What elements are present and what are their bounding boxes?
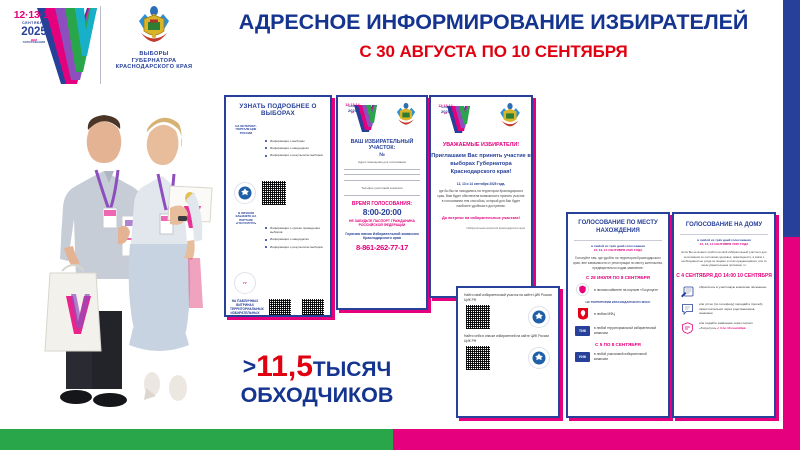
emblem-caption-line-1: ВЫБОРЫ bbox=[104, 51, 204, 58]
v-mark-icon: 12·13·14 СЕНТЯБРЯ 2025 ДНИ bbox=[437, 104, 470, 134]
logo-date-line: 12·13·14 bbox=[9, 10, 59, 21]
header: 12·13·14 СЕНТЯБРЯ 2025 ДНИ ГОЛОСОВАНИЯ bbox=[0, 0, 800, 92]
poster1-block1-label: НА ИНТЕРНЕТ-ПОРТАЛЕ ЦИК РОССИИ bbox=[230, 123, 262, 177]
poster6-item1-text: обратитесь в участковую комиссию письмен… bbox=[699, 285, 766, 290]
poster4-item2-text: Найти себя в списке избирателей на сайте… bbox=[464, 334, 552, 344]
qr-code[interactable] bbox=[302, 299, 324, 317]
poster4-item-2: Найти себя в списке избирателей на сайте… bbox=[458, 329, 558, 344]
poster-voting-by-location[interactable]: ГОЛОСОВАНИЕ ПО МЕСТУ НАХОЖДЕНИЯ в любой … bbox=[566, 212, 670, 418]
poster-voting-at-home[interactable]: ГОЛОСОВАНИЕ НА ДОМУ в любой из трёх дней… bbox=[672, 212, 776, 418]
logo-days-1: ДНИ bbox=[344, 113, 361, 114]
qr-code[interactable] bbox=[262, 181, 286, 205]
logo-days-2: ГОЛОСОВАНИЯ bbox=[9, 42, 59, 45]
edge-stripe-pink bbox=[783, 237, 800, 450]
poster2-title: ВАШ ИЗБИРАТЕЛЬНЫЙ УЧАСТОК: bbox=[341, 139, 423, 151]
poster6-item-2: или устно (по телефону) передайте просьб… bbox=[674, 302, 774, 316]
qr-code[interactable] bbox=[466, 346, 490, 370]
poster3-body: где бы Вы ни находились на территории Кр… bbox=[437, 189, 525, 209]
write-line bbox=[344, 174, 420, 175]
stat-greater-than: > bbox=[243, 353, 256, 379]
poster6-date: С 4 СЕНТЯБРЯ ДО 14:00 10 СЕНТЯБРЯ bbox=[676, 273, 772, 280]
poster3-header: 12·13·14 СЕНТЯБРЯ 2025 ДНИ bbox=[431, 97, 531, 138]
poster3-title: УВАЖАЕМЫЕ ИЗБИРАТЕЛИ! bbox=[434, 142, 528, 148]
poster5-sub-2: 12, 13, 14 СЕНТЯБРЯ 2025 ГОДА bbox=[568, 248, 668, 252]
list-item: Информация о выборах bbox=[265, 139, 326, 144]
poster5-date-2: С 5 ПО 8 СЕНТЯБРЯ bbox=[570, 342, 666, 347]
poster5-item4-text: в любой участковой избирательной комисси… bbox=[594, 352, 661, 361]
divider bbox=[574, 240, 662, 241]
poster1-block-2: В ЛИЧНОМ КАБИНЕТЕ НА ПОРТАЛЕ «ГОСУСЛУГИ»… bbox=[226, 210, 330, 268]
stat-unit: ТЫСЯЧ bbox=[313, 358, 391, 381]
mfc-icon bbox=[575, 307, 590, 320]
coat-of-arms-icon bbox=[495, 101, 525, 136]
list-item: Информация о результатах выборов bbox=[265, 245, 326, 250]
page-title: АДРЕСНОЕ ИНФОРМИРОВАНИЕ ИЗБИРАТЕЛЕЙ С 30… bbox=[206, 10, 781, 62]
poster1-block2-list: Информация о сроках проведения выборов И… bbox=[262, 226, 326, 252]
photo-two-canvassers bbox=[18, 88, 214, 418]
poster3-body-bold: Приглашаем Вас принять участие в выборах… bbox=[431, 152, 531, 176]
poster2-hotline-label: Горячая линия Избирательной комиссии Кра… bbox=[338, 232, 426, 242]
poster1-block-1: НА ИНТЕРНЕТ-ПОРТАЛЕ ЦИК РОССИИ Информаци… bbox=[226, 123, 330, 177]
slide-canvas: 12·13·14 СЕНТЯБРЯ 2025 ДНИ ГОЛОСОВАНИЯ bbox=[0, 0, 800, 450]
poster4-item-1: Найти свой избирательный участок на сайт… bbox=[458, 288, 558, 303]
title-subtitle: С 30 АВГУСТА ПО 10 СЕНТЯБРЯ bbox=[206, 42, 781, 62]
poster5-title: ГОЛОСОВАНИЕ ПО МЕСТУ НАХОЖДЕНИЯ bbox=[572, 220, 664, 236]
canvassers-stat: >11,5ТЫСЯЧ ОБХОДЧИКОВ bbox=[222, 352, 412, 407]
v-mark-icon: 12·13·14 СЕНТЯБРЯ 2025 ДНИ bbox=[344, 103, 377, 133]
list-item: Информация о сроках проведения выборов bbox=[265, 226, 326, 235]
write-line bbox=[344, 180, 420, 181]
poster2-address-label: Адрес помещения для голосования bbox=[338, 160, 426, 164]
russian-coat-of-arms-seal-icon bbox=[234, 182, 256, 204]
russian-coat-of-arms-seal-icon bbox=[528, 306, 550, 328]
uik-badge-label: УИК bbox=[575, 352, 590, 362]
letter-icon bbox=[681, 285, 695, 297]
poster2-phone-label: Телефон участковой комиссии bbox=[338, 186, 426, 190]
poster1-block-3: НА ПАБЛИЧНЫХ ВИТРИНАХ ТЕРРИТОРИАЛЬНЫХ ИЗ… bbox=[226, 299, 330, 317]
poster2-number-label: № bbox=[338, 152, 426, 158]
poster6-item-3: или подайте заявление через портал «Госу… bbox=[674, 321, 774, 333]
poster1-qr-row-1 bbox=[226, 181, 330, 205]
poster4-qr-line-2 bbox=[458, 344, 558, 370]
gosuslugi-icon bbox=[575, 283, 590, 296]
poster3-date-line: 12, 13 и 14 сентября 2025 года, bbox=[437, 182, 525, 187]
poster-cik-search[interactable]: Найти свой избирательный участок на сайт… bbox=[456, 286, 560, 418]
write-line bbox=[344, 169, 420, 170]
poster1-title: УЗНАТЬ ПОДРОБНЕЕ О ВЫБОРАХ bbox=[230, 103, 326, 118]
poster2-passport-note: НЕ ЗАБУДЬТЕ ПАСПОРТ ГРАЖДАНИНА РОССИЙСКО… bbox=[338, 219, 426, 228]
emblem-caption: ВЫБОРЫ ГУБЕРНАТОРА КРАСНОДАРСКОГО КРАЯ bbox=[104, 51, 204, 71]
poster1-qr-row-2: ГУ bbox=[226, 272, 330, 294]
poster1-block3-label: НА ПАБЛИЧНЫХ ВИТРИНАХ ТЕРРИТОРИАЛЬНЫХ ИЗ… bbox=[230, 299, 260, 317]
poster6-body: Если Вы не можете прийти на свой избират… bbox=[679, 250, 769, 267]
portal-icon bbox=[681, 321, 695, 333]
coat-of-arms-icon bbox=[131, 3, 177, 49]
title-main: АДРЕСНОЕ ИНФОРМИРОВАНИЕ ИЗБИРАТЕЛЕЙ bbox=[206, 10, 781, 35]
poster5-item1-text: в личном кабинете на портале «Госуслуги» bbox=[594, 288, 658, 293]
poster-invitation[interactable]: 12·13·14 СЕНТЯБРЯ 2025 ДНИ УВАЖАЕМЫЕ ИЗБ… bbox=[429, 95, 533, 298]
poster6-title: ГОЛОСОВАНИЕ НА ДОМУ bbox=[678, 221, 770, 229]
tik-badge-icon: ТИК bbox=[575, 324, 590, 337]
poster-your-precinct[interactable]: 12·13·14 СЕНТЯБРЯ 2025 ДНИ ВАШ ИЗБИРАТЕЛ… bbox=[336, 95, 428, 310]
edge-stripe-green bbox=[0, 429, 393, 450]
poster3-cta: До встречи на избирательных участках! bbox=[435, 215, 527, 220]
poster4-item1-text: Найти свой избирательный участок на сайт… bbox=[464, 293, 552, 303]
poster5-item2-text: в любом МФЦ bbox=[594, 312, 615, 317]
poster5-item-4: УИК в любой участковой избирательной ком… bbox=[568, 350, 668, 363]
divider bbox=[680, 234, 768, 235]
qr-code[interactable] bbox=[269, 299, 291, 317]
election-logo: 12·13·14 СЕНТЯБРЯ 2025 ДНИ ГОЛОСОВАНИЯ bbox=[5, 4, 97, 88]
logo-dates: 12·13·14 СЕНТЯБРЯ 2025 ДНИ ГОЛОСОВАНИЯ bbox=[9, 10, 59, 44]
poster3-signature: Избирательная комиссия Краснодарского кр… bbox=[437, 227, 525, 231]
qr-item[interactable]: ЦИК России cikrf.ru bbox=[300, 299, 326, 317]
speech-bubble-icon bbox=[681, 302, 695, 314]
coat-of-arms-icon bbox=[392, 101, 420, 134]
list-item: Информация о результатах выборов bbox=[265, 153, 326, 158]
list-item: Информация о кандидатах bbox=[265, 237, 326, 242]
tik-badge-label: ТИК bbox=[575, 326, 590, 336]
poster5-item-3: ТИК в любой территориальной избирательно… bbox=[568, 324, 668, 337]
emblem-caption-line-2: ГУБЕРНАТОРА bbox=[104, 58, 204, 65]
poster5-body: Голосуйте там, где удобно на территории … bbox=[573, 256, 663, 270]
poster2-hotline-number: 8-861-262-77-17 bbox=[338, 243, 426, 252]
poster5-item3-text: в любой территориальной избирательной ко… bbox=[594, 326, 661, 335]
poster1-block1-list: Информация о выборах Информация о кандид… bbox=[262, 139, 326, 161]
stat-number: 11,5 bbox=[256, 350, 313, 383]
poster2-time-value: 8:00-20:00 bbox=[338, 207, 426, 217]
poster6-item2-text: или устно (по телефону) передайте просьб… bbox=[699, 302, 767, 316]
poster5-item-2: в любом МФЦ bbox=[568, 307, 668, 320]
header-divider bbox=[100, 6, 101, 84]
write-line bbox=[344, 195, 420, 196]
poster6-sub-2: 12, 13, 14 СЕНТЯБРЯ 2025 ГОДА bbox=[674, 242, 774, 246]
poster6-item3-text: или подайте заявление через портал «Госу… bbox=[699, 321, 767, 330]
list-item: Информация о кандидатах bbox=[265, 146, 326, 151]
poster5-date-1: С 28 ИЮЛЯ ПО 8 СЕНТЯБРЯ bbox=[570, 275, 666, 280]
emblem-caption-line-3: КРАСНОДАРСКОГО КРАЯ bbox=[104, 64, 204, 71]
logo-days-1: ДНИ bbox=[437, 114, 454, 115]
poster6-item-1: обратитесь в участковую комиссию письмен… bbox=[674, 285, 774, 297]
logo-year: 2025 bbox=[9, 27, 59, 39]
poster5-region-header: НА ТЕРРИТОРИИ КРАСНОДАРСКОГО КРАЯ: bbox=[571, 300, 665, 304]
stat-line-2: ОБХОДЧИКОВ bbox=[222, 385, 412, 407]
poster-learn-more[interactable]: УЗНАТЬ ПОДРОБНЕЕ О ВЫБОРАХ НА ИНТЕРНЕТ-П… bbox=[224, 95, 332, 317]
poster6-item3-pink: с 4 по 10 сентября bbox=[717, 326, 745, 330]
poster2-header: 12·13·14 СЕНТЯБРЯ 2025 ДНИ bbox=[338, 97, 426, 136]
qr-code[interactable] bbox=[466, 305, 490, 329]
russian-coat-of-arms-seal-icon bbox=[528, 347, 550, 369]
poster1-block2-label: В ЛИЧНОМ КАБИНЕТЕ НА ПОРТАЛЕ «ГОСУСЛУГИ» bbox=[230, 210, 262, 268]
kuban-emblem-block: ВЫБОРЫ ГУБЕРНАТОРА КРАСНОДАРСКОГО КРАЯ bbox=[104, 3, 204, 71]
logo-dates: 12·13·14 СЕНТЯБРЯ 2025 ДНИ bbox=[437, 105, 454, 116]
poster4-qr-line-1 bbox=[458, 303, 558, 329]
qr-item[interactable]: Избирком края ik-krasnodar.ru bbox=[267, 299, 293, 317]
gosuslugi-icon: ГУ bbox=[234, 272, 256, 294]
poster5-item-1: в личном кабинете на портале «Госуслуги» bbox=[568, 283, 668, 296]
uik-badge-icon: УИК bbox=[575, 350, 590, 363]
logo-dates: 12·13·14 СЕНТЯБРЯ 2025 ДНИ bbox=[344, 104, 361, 115]
edge-stripe-bottom-pink bbox=[393, 429, 800, 450]
